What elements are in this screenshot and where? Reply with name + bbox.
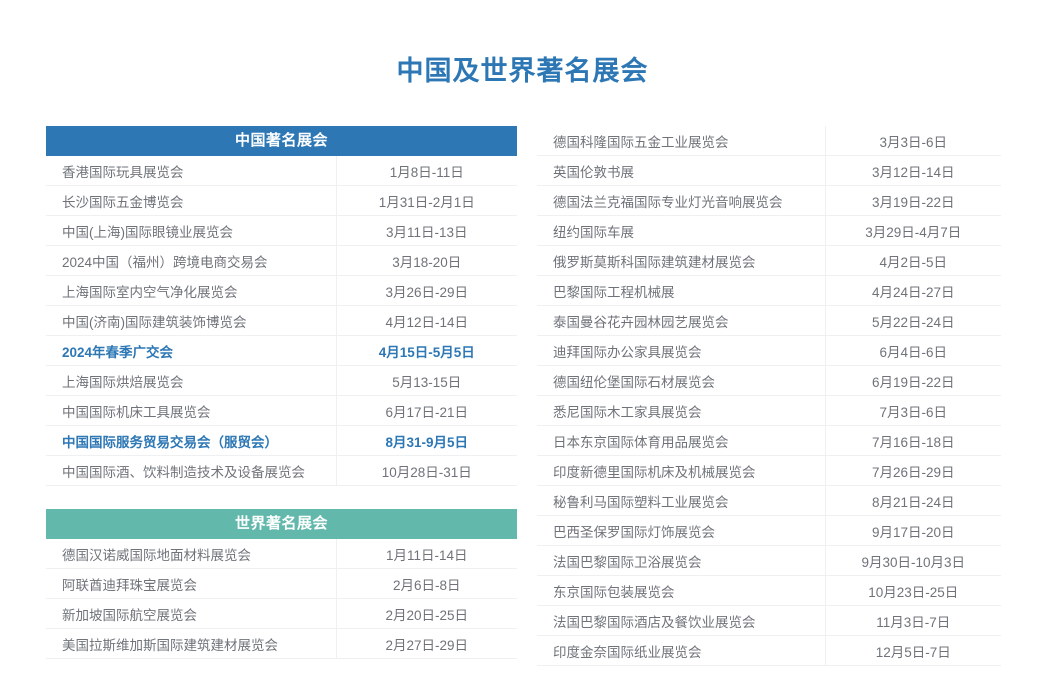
china-table-head: 中国著名展会	[46, 126, 517, 156]
expo-name-cell: 长沙国际五金博览会	[46, 186, 336, 216]
world-continued-table-body: 德国科隆国际五金工业展览会3月3日-6日英国伦敦书展3月12日-14日德国法兰克…	[537, 126, 1001, 666]
expo-date-cell: 1月11日-14日	[336, 539, 517, 569]
table-row: 巴黎国际工程机械展4月24日-27日	[537, 276, 1001, 306]
table-row: 上海国际烘焙展览会5月13-15日	[46, 366, 517, 396]
world-table-title: 世界著名展会	[46, 509, 517, 539]
table-row: 巴西圣保罗国际灯饰展览会9月17日-20日	[537, 516, 1001, 546]
table-header-row: 世界著名展会	[46, 509, 517, 539]
expo-date-cell: 3月3日-6日	[825, 126, 1001, 156]
expo-date-cell: 9月17日-20日	[825, 516, 1001, 546]
table-row: 印度金奈国际纸业展览会12月5日-7日	[537, 636, 1001, 666]
expo-name-cell: 德国法兰克福国际专业灯光音响展览会	[537, 186, 825, 216]
expo-date-cell: 7月3日-6日	[825, 396, 1001, 426]
expo-date-cell: 3月29日-4月7日	[825, 216, 1001, 246]
expo-name-cell: 上海国际室内空气净化展览会	[46, 276, 336, 306]
expo-date-cell: 4月12日-14日	[336, 306, 517, 336]
table-row: 2024中国（福州）跨境电商交易会3月18-20日	[46, 246, 517, 276]
expo-date-cell: 8月31-9月5日	[336, 426, 517, 456]
expo-name-cell: 日本东京国际体育用品展览会	[537, 426, 825, 456]
expo-name-cell: 德国纽伦堡国际石材展览会	[537, 366, 825, 396]
expo-name-cell: 迪拜国际办公家具展览会	[537, 336, 825, 366]
table-row: 纽约国际车展3月29日-4月7日	[537, 216, 1001, 246]
expo-date-cell: 7月16日-18日	[825, 426, 1001, 456]
table-row: 泰国曼谷花卉园林园艺展览会5月22日-24日	[537, 306, 1001, 336]
expo-date-cell: 8月21日-24日	[825, 486, 1001, 516]
expo-date-cell: 2月27日-29日	[336, 629, 517, 659]
expo-name-cell: 上海国际烘焙展览会	[46, 366, 336, 396]
expo-date-cell: 6月4日-6日	[825, 336, 1001, 366]
expo-name-cell: 2024中国（福州）跨境电商交易会	[46, 246, 336, 276]
world-table-head: 世界著名展会	[46, 509, 517, 539]
expo-date-cell: 7月26日-29日	[825, 456, 1001, 486]
expo-name-cell: 香港国际玩具展览会	[46, 156, 336, 186]
expo-name-cell: 中国国际机床工具展览会	[46, 396, 336, 426]
expo-date-cell: 3月19日-22日	[825, 186, 1001, 216]
table-row: 新加坡国际航空展览会2月20日-25日	[46, 599, 517, 629]
expo-name-cell: 中国(上海)国际眼镜业展览会	[46, 216, 336, 246]
table-row: 阿联酋迪拜珠宝展览会2月6日-8日	[46, 569, 517, 599]
table-row: 法国巴黎国际卫浴展览会9月30日-10月3日	[537, 546, 1001, 576]
expo-name-cell: 悉尼国际木工家具展览会	[537, 396, 825, 426]
expo-name-cell: 巴西圣保罗国际灯饰展览会	[537, 516, 825, 546]
table-row: 法国巴黎国际酒店及餐饮业展览会11月3日-7日	[537, 606, 1001, 636]
expo-name-cell: 中国国际服务贸易交易会（服贸会）	[46, 426, 336, 456]
page-title: 中国及世界著名展会	[0, 54, 1045, 88]
table-row: 迪拜国际办公家具展览会6月4日-6日	[537, 336, 1001, 366]
expo-name-cell: 阿联酋迪拜珠宝展览会	[46, 569, 336, 599]
expo-date-cell: 3月11日-13日	[336, 216, 517, 246]
expo-name-cell: 美国拉斯维加斯国际建筑建材展览会	[46, 629, 336, 659]
table-row: 俄罗斯莫斯科国际建筑建材展览会4月2日-5日	[537, 246, 1001, 276]
expo-name-cell: 2024年春季广交会	[46, 336, 336, 366]
table-row: 长沙国际五金博览会1月31日-2月1日	[46, 186, 517, 216]
expo-name-cell: 法国巴黎国际酒店及餐饮业展览会	[537, 606, 825, 636]
expo-date-cell: 10月23日-25日	[825, 576, 1001, 606]
expo-name-cell: 中国国际酒、饮料制造技术及设备展览会	[46, 456, 336, 486]
table-world-famous-expos-continued: 德国科隆国际五金工业展览会3月3日-6日英国伦敦书展3月12日-14日德国法兰克…	[537, 126, 1001, 666]
table-header-row: 中国著名展会	[46, 126, 517, 156]
world-expo-table-continued: 德国科隆国际五金工业展览会3月3日-6日英国伦敦书展3月12日-14日德国法兰克…	[537, 126, 1001, 666]
expo-name-cell: 印度金奈国际纸业展览会	[537, 636, 825, 666]
expo-date-cell: 2月20日-25日	[336, 599, 517, 629]
expo-date-cell: 3月12日-14日	[825, 156, 1001, 186]
table-row: 中国国际机床工具展览会6月17日-21日	[46, 396, 517, 426]
china-table-body: 香港国际玩具展览会1月8日-11日长沙国际五金博览会1月31日-2月1日中国(上…	[46, 156, 517, 486]
table-china-famous-expos: 中国著名展会 香港国际玩具展览会1月8日-11日长沙国际五金博览会1月31日-2…	[46, 126, 517, 486]
table-row: 印度新德里国际机床及机械展览会7月26日-29日	[537, 456, 1001, 486]
table-world-famous-expos: 世界著名展会 德国汉诺威国际地面材料展览会1月11日-14日阿联酋迪拜珠宝展览会…	[46, 509, 517, 659]
expo-date-cell: 5月13-15日	[336, 366, 517, 396]
expo-date-cell: 3月26日-29日	[336, 276, 517, 306]
expo-name-cell: 英国伦敦书展	[537, 156, 825, 186]
expo-name-cell: 印度新德里国际机床及机械展览会	[537, 456, 825, 486]
table-row: 东京国际包装展览会10月23日-25日	[537, 576, 1001, 606]
expo-name-cell: 新加坡国际航空展览会	[46, 599, 336, 629]
china-expo-table: 中国著名展会 香港国际玩具展览会1月8日-11日长沙国际五金博览会1月31日-2…	[46, 126, 517, 486]
expo-date-cell: 6月19日-22日	[825, 366, 1001, 396]
table-row: 秘鲁利马国际塑料工业展览会8月21日-24日	[537, 486, 1001, 516]
expo-date-cell: 2月6日-8日	[336, 569, 517, 599]
expo-date-cell: 1月31日-2月1日	[336, 186, 517, 216]
expo-name-cell: 俄罗斯莫斯科国际建筑建材展览会	[537, 246, 825, 276]
world-table-body: 德国汉诺威国际地面材料展览会1月11日-14日阿联酋迪拜珠宝展览会2月6日-8日…	[46, 539, 517, 659]
expo-date-cell: 1月8日-11日	[336, 156, 517, 186]
table-row: 中国国际服务贸易交易会（服贸会）8月31-9月5日	[46, 426, 517, 456]
table-row: 悉尼国际木工家具展览会7月3日-6日	[537, 396, 1001, 426]
expo-date-cell: 4月15日-5月5日	[336, 336, 517, 366]
table-row: 中国(上海)国际眼镜业展览会3月11日-13日	[46, 216, 517, 246]
table-row: 中国(济南)国际建筑装饰博览会4月12日-14日	[46, 306, 517, 336]
table-row: 德国纽伦堡国际石材展览会6月19日-22日	[537, 366, 1001, 396]
table-row: 日本东京国际体育用品展览会7月16日-18日	[537, 426, 1001, 456]
expo-name-cell: 东京国际包装展览会	[537, 576, 825, 606]
expo-name-cell: 泰国曼谷花卉园林园艺展览会	[537, 306, 825, 336]
expo-name-cell: 秘鲁利马国际塑料工业展览会	[537, 486, 825, 516]
expo-date-cell: 3月18-20日	[336, 246, 517, 276]
table-row: 上海国际室内空气净化展览会3月26日-29日	[46, 276, 517, 306]
table-row: 2024年春季广交会4月15日-5月5日	[46, 336, 517, 366]
table-row: 香港国际玩具展览会1月8日-11日	[46, 156, 517, 186]
expo-date-cell: 10月28日-31日	[336, 456, 517, 486]
table-row: 德国汉诺威国际地面材料展览会1月11日-14日	[46, 539, 517, 569]
expo-name-cell: 中国(济南)国际建筑装饰博览会	[46, 306, 336, 336]
expo-date-cell: 9月30日-10月3日	[825, 546, 1001, 576]
expo-date-cell: 6月17日-21日	[336, 396, 517, 426]
expo-name-cell: 巴黎国际工程机械展	[537, 276, 825, 306]
table-row: 美国拉斯维加斯国际建筑建材展览会2月27日-29日	[46, 629, 517, 659]
expo-date-cell: 12月5日-7日	[825, 636, 1001, 666]
expo-name-cell: 德国科隆国际五金工业展览会	[537, 126, 825, 156]
world-expo-table: 世界著名展会 德国汉诺威国际地面材料展览会1月11日-14日阿联酋迪拜珠宝展览会…	[46, 509, 517, 659]
expo-name-cell: 纽约国际车展	[537, 216, 825, 246]
table-row: 德国法兰克福国际专业灯光音响展览会3月19日-22日	[537, 186, 1001, 216]
expo-date-cell: 11月3日-7日	[825, 606, 1001, 636]
expo-date-cell: 4月2日-5日	[825, 246, 1001, 276]
expo-date-cell: 5月22日-24日	[825, 306, 1001, 336]
table-row: 中国国际酒、饮料制造技术及设备展览会10月28日-31日	[46, 456, 517, 486]
table-row: 英国伦敦书展3月12日-14日	[537, 156, 1001, 186]
expo-name-cell: 法国巴黎国际卫浴展览会	[537, 546, 825, 576]
expo-name-cell: 德国汉诺威国际地面材料展览会	[46, 539, 336, 569]
china-table-title: 中国著名展会	[46, 126, 517, 156]
table-row: 德国科隆国际五金工业展览会3月3日-6日	[537, 126, 1001, 156]
expo-date-cell: 4月24日-27日	[825, 276, 1001, 306]
